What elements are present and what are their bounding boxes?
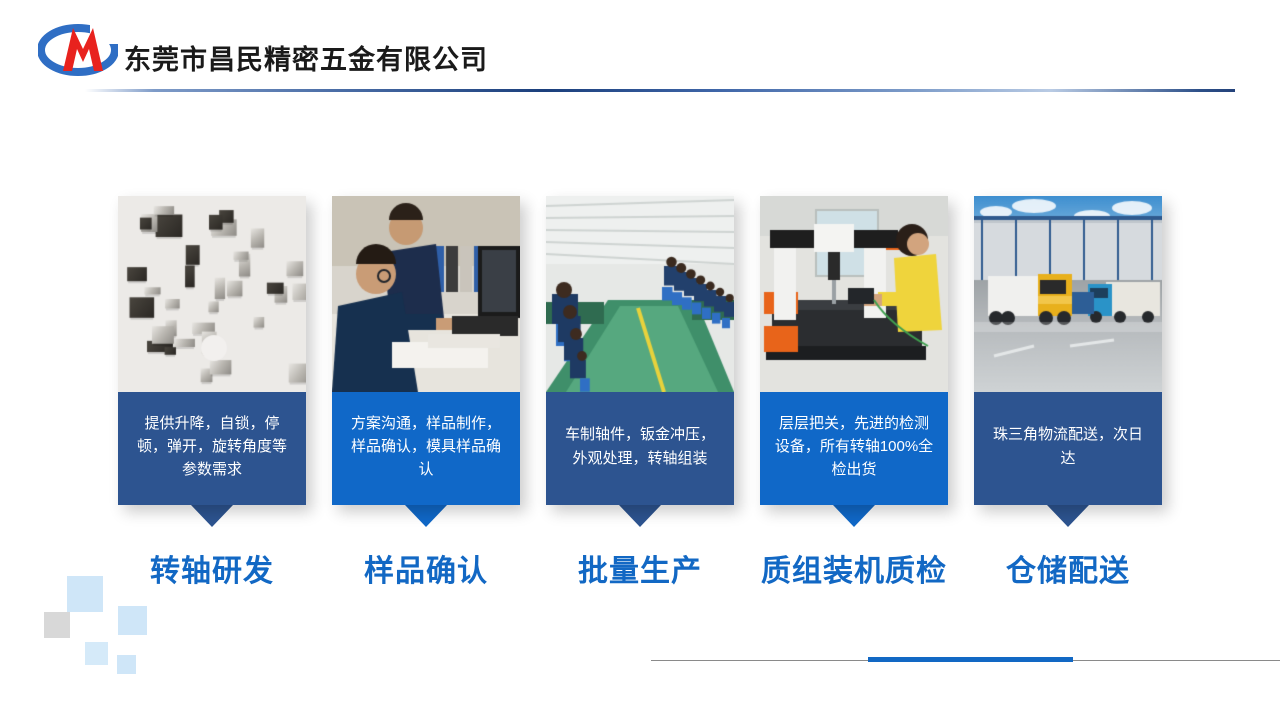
process-cards-row: 提供升降，自锁，停顿，弹开，旋转角度等参数需求 方案沟通，样品制作，样品确认，模… (0, 196, 1280, 536)
step-label-5: 仓储配送 (938, 546, 1198, 590)
card-pointer-3 (619, 505, 661, 527)
slide-canvas: 东莞市昌民精密五金有限公司 提供升降，自锁，停顿，弹开，旋转角度等参数需求 方案… (0, 0, 1280, 720)
assembly-line-workers-photo (546, 196, 734, 392)
card-caption-text-4: 层层把关，先进的检测设备，所有转轴100%全检出货 (772, 412, 936, 482)
process-card-2[interactable]: 方案沟通，样品制作，样品确认，模具样品确认 (332, 196, 520, 505)
card-caption-text-5: 珠三角物流配送，次日达 (986, 423, 1150, 470)
process-card-5[interactable]: 珠三角物流配送，次日达 (974, 196, 1162, 505)
hinge-hardware-parts-photo (118, 196, 306, 392)
card-caption-text-3: 车制轴件，钣金冲压，外观处理，转轴组装 (558, 423, 722, 470)
process-card-1[interactable]: 提供升降，自锁，停顿，弹开，旋转角度等参数需求 (118, 196, 306, 505)
decorative-square-2 (118, 606, 147, 635)
card-caption-5: 珠三角物流配送，次日达 (974, 392, 1162, 505)
warehouse-trucks-photo (974, 196, 1162, 392)
card-caption-4: 层层把关，先进的检测设备，所有转轴100%全检出货 (760, 392, 948, 505)
decorative-square-3 (44, 612, 70, 638)
company-name: 东莞市昌民精密五金有限公司 (124, 38, 488, 77)
card-caption-text-2: 方案沟通，样品制作，样品确认，模具样品确认 (344, 412, 508, 482)
slide-header: 东莞市昌民精密五金有限公司 (0, 0, 1280, 100)
card-pointer-5 (1047, 505, 1089, 527)
engineers-at-computer-photo (332, 196, 520, 392)
footer-divider-accent (868, 657, 1073, 662)
header-divider (85, 89, 1235, 92)
card-caption-text-1: 提供升降，自锁，停顿，弹开，旋转角度等参数需求 (130, 412, 294, 482)
card-pointer-1 (191, 505, 233, 527)
process-card-4[interactable]: 层层把关，先进的检测设备，所有转轴100%全检出货 (760, 196, 948, 505)
card-caption-3: 车制轴件，钣金冲压，外观处理，转轴组装 (546, 392, 734, 505)
process-card-3[interactable]: 车制轴件，钣金冲压，外观处理，转轴组装 (546, 196, 734, 505)
process-step-labels: 转轴研发 样品确认 批量生产 质组装机质检 仓储配送 (0, 546, 1280, 590)
decorative-square-5 (117, 655, 136, 674)
card-caption-2: 方案沟通，样品制作，样品确认，模具样品确认 (332, 392, 520, 505)
decorative-square-4 (85, 642, 108, 665)
cmm-inspection-machine-photo (760, 196, 948, 392)
card-caption-1: 提供升降，自锁，停顿，弹开，旋转角度等参数需求 (118, 392, 306, 505)
cm-monogram-logo-icon (38, 22, 118, 78)
card-pointer-2 (405, 505, 447, 527)
card-pointer-4 (833, 505, 875, 527)
